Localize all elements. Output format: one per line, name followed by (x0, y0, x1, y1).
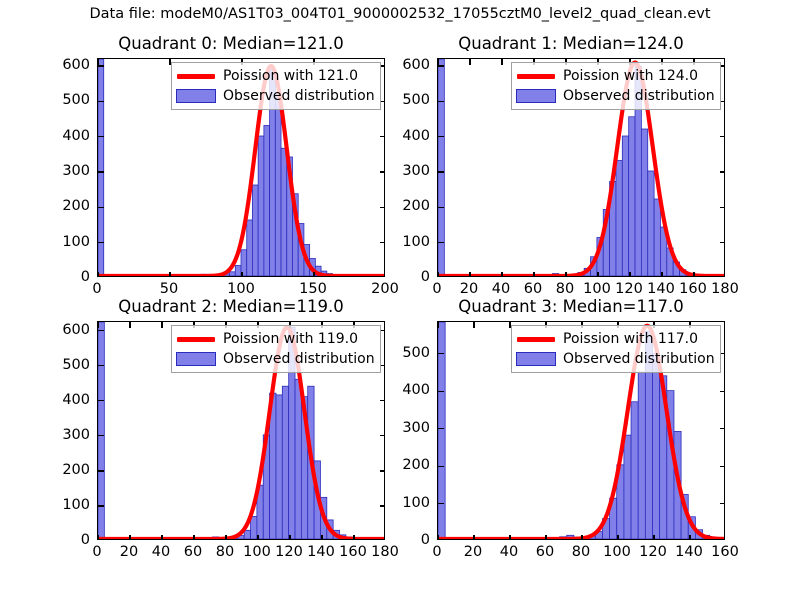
quadrant-1-xtick-mark (469, 59, 470, 65)
quadrant-2-ytick-mark (380, 435, 385, 436)
matplotlib-figure: Data file: modeM0/AS1T03_004T01_90000025… (0, 0, 800, 600)
quadrant-0-legend-entry-observed: Observed distribution (176, 86, 375, 106)
quadrant-3-xtick-mark (473, 535, 474, 540)
quadrant-3-xtick-label: 40 (500, 544, 518, 560)
quadrant-3-xtick-label: 80 (572, 544, 590, 560)
quadrant-3-xtick-mark (617, 535, 618, 540)
quadrant-2-legend-label-poisson: Poission with 119.0 (223, 331, 358, 347)
quadrant-1-ytick-mark (438, 65, 444, 66)
quadrant-1-xtick-label: 140 (647, 281, 675, 297)
quadrant-1-legend-label-observed: Observed distribution (563, 88, 715, 104)
quadrant-1-legend-entry-poisson: Poission with 124.0 (516, 66, 715, 86)
quadrant-1-xtick-label: 40 (492, 281, 510, 297)
quadrant-1-ytick-mark (720, 207, 725, 208)
quadrant-1-ytick-mark (720, 171, 725, 172)
quadrant-3-xtick-mark (437, 322, 438, 328)
quadrant-2-ytick-mark (380, 505, 385, 506)
quadrant-2-ytick-mark (98, 400, 104, 401)
quadrant-0-xtick-mark (313, 272, 314, 277)
quadrant-2-title: Quadrant 2: Median=119.0 (55, 297, 407, 316)
quadrant-0-ytick-mark (380, 207, 385, 208)
quadrant-2-xtick-label: 100 (243, 544, 271, 560)
quadrant-0-ytick-label: 400 (55, 128, 90, 144)
quadrant-1-ytick-mark (438, 242, 444, 243)
quadrant-3-xtick-label: 0 (432, 544, 441, 560)
quadrant-1-xtick-label: 120 (615, 281, 643, 297)
quadrant-1-xtick-mark (693, 272, 694, 277)
quadrant-1-ytick-label: 100 (395, 234, 430, 250)
quadrant-2-xtick-mark (161, 535, 162, 540)
quadrant-3-axes: Poission with 117.0Observed distribution (437, 321, 725, 540)
quadrant-2-xtick-label: 20 (120, 544, 138, 560)
quadrant-3-ytick-mark (720, 353, 725, 354)
quadrant-1-ytick-label: 400 (395, 128, 430, 144)
legend-line-swatch-icon (176, 68, 216, 84)
quadrant-0-ytick-mark (380, 136, 385, 137)
quadrant-3-xtick-mark (473, 322, 474, 328)
quadrant-0-legend-label-observed: Observed distribution (223, 88, 375, 104)
legend-bar-swatch-icon (516, 89, 556, 103)
quadrant-0-ytick-label: 600 (55, 57, 90, 73)
quadrant-3-xtick-mark (437, 535, 438, 540)
quadrant-2-legend-label-observed: Observed distribution (223, 351, 375, 367)
quadrant-2-ytick-label: 400 (55, 392, 90, 408)
quadrant-1-xtick-mark (437, 59, 438, 65)
quadrant-3-ytick-label: 500 (395, 345, 430, 361)
quadrant-0-ytick-label: 0 (55, 269, 90, 285)
quadrant-1-legend-label-poisson: Poission with 124.0 (563, 68, 698, 84)
quadrant-3-ytick-mark (720, 503, 725, 504)
quadrant-1-xtick-mark (565, 272, 566, 277)
quadrant-0-ytick-mark (98, 207, 104, 208)
quadrant-2-ytick-mark (380, 400, 385, 401)
legend-line-swatch-icon (516, 68, 556, 84)
quadrant-3-ytick-mark (438, 353, 444, 354)
quadrant-3-legend[interactable]: Poission with 117.0Observed distribution (511, 325, 721, 373)
quadrant-0-ytick-mark (380, 65, 385, 66)
quadrant-1-legend[interactable]: Poission with 124.0Observed distribution (511, 62, 721, 110)
quadrant-2-xtick-mark (321, 535, 322, 540)
quadrant-0-xtick-mark (97, 272, 98, 277)
quadrant-1-ytick-mark (720, 65, 725, 66)
quadrant-2-xtick-mark (225, 535, 226, 540)
quadrant-0-ytick-mark (380, 101, 385, 102)
quadrant-3-ytick-mark (720, 391, 725, 392)
quadrant-2-xtick-mark (129, 322, 130, 328)
quadrant-3-xtick-mark (689, 535, 690, 540)
quadrant-1-xtick-label: 0 (432, 281, 441, 297)
quadrant-2-xtick-label: 40 (152, 544, 170, 560)
quadrant-2-ytick-mark (98, 505, 104, 506)
quadrant-1-ytick-label: 600 (395, 57, 430, 73)
quadrant-3-title: Quadrant 3: Median=117.0 (395, 297, 747, 316)
quadrant-3-xtick-label: 120 (639, 544, 667, 560)
quadrant-2-xtick-mark (97, 535, 98, 540)
quadrant-2-ytick-label: 300 (55, 427, 90, 443)
quadrant-0-xtick-mark (169, 272, 170, 277)
quadrant-0-xtick-mark (97, 59, 98, 65)
quadrant-2-xtick-mark (97, 322, 98, 328)
panel-quadrant-1: Quadrant 1: Median=124.0Poission with 12… (395, 34, 747, 305)
quadrant-3-xtick-mark (581, 535, 582, 540)
quadrant-0-title: Quadrant 0: Median=121.0 (55, 34, 407, 53)
legend-bar-swatch-icon (516, 352, 556, 366)
quadrant-0-axes: Poission with 121.0Observed distribution (97, 58, 385, 277)
quadrant-1-ytick-mark (720, 136, 725, 137)
quadrant-0-ytick-mark (98, 65, 104, 66)
quadrant-3-ytick-label: 300 (395, 420, 430, 436)
quadrant-2-xtick-mark (257, 535, 258, 540)
quadrant-3-ytick-mark (720, 466, 725, 467)
quadrant-2-xtick-label: 120 (275, 544, 303, 560)
quadrant-1-xtick-label: 60 (524, 281, 542, 297)
quadrant-3-ytick-mark (720, 428, 725, 429)
quadrant-1-xtick-mark (469, 272, 470, 277)
quadrant-3-legend-entry-observed: Observed distribution (516, 349, 715, 369)
quadrant-0-legend[interactable]: Poission with 121.0Observed distribution (171, 62, 381, 110)
quadrant-3-xtick-mark (653, 535, 654, 540)
quadrant-0-xtick-mark (241, 272, 242, 277)
quadrant-2-legend-entry-poisson: Poission with 119.0 (176, 329, 375, 349)
quadrant-1-xtick-label: 180 (711, 281, 739, 297)
quadrant-0-legend-label-poisson: Poission with 121.0 (223, 68, 358, 84)
quadrant-1-axes: Poission with 124.0Observed distribution (437, 58, 725, 277)
quadrant-3-ytick-mark (438, 428, 444, 429)
quadrant-0-ytick-mark (380, 171, 385, 172)
quadrant-0-xtick-label: 150 (299, 281, 327, 297)
quadrant-1-ytick-label: 200 (395, 198, 430, 214)
quadrant-2-ytick-mark (98, 470, 104, 471)
panel-quadrant-0: Quadrant 0: Median=121.0Poission with 12… (55, 34, 407, 305)
quadrant-3-xtick-mark (545, 535, 546, 540)
quadrant-2-legend-entry-observed: Observed distribution (176, 349, 375, 369)
quadrant-3-xtick-mark (509, 535, 510, 540)
quadrant-3-ytick-mark (438, 466, 444, 467)
quadrant-0-ytick-label: 500 (55, 92, 90, 108)
quadrant-1-ytick-mark (438, 136, 444, 137)
quadrant-3-xtick-label: 100 (603, 544, 631, 560)
quadrant-0-ytick-mark (98, 136, 104, 137)
quadrant-3-ytick-label: 400 (395, 382, 430, 398)
quadrant-2-ytick-label: 500 (55, 357, 90, 373)
quadrant-2-ytick-mark (98, 435, 104, 436)
quadrant-0-ytick-mark (98, 101, 104, 102)
quadrant-0-ytick-mark (380, 242, 385, 243)
quadrant-2-ytick-mark (98, 330, 104, 331)
legend-line-swatch-icon (516, 331, 556, 347)
quadrant-0-ytick-label: 200 (55, 198, 90, 214)
quadrant-0-legend-entry-poisson: Poission with 121.0 (176, 66, 375, 86)
quadrant-1-xtick-mark (437, 272, 438, 277)
quadrant-3-xtick-label: 160 (711, 544, 739, 560)
quadrant-1-title: Quadrant 1: Median=124.0 (395, 34, 747, 53)
quadrant-1-ytick-mark (438, 207, 444, 208)
quadrant-0-xtick-label: 0 (92, 281, 101, 297)
quadrant-1-xtick-label: 160 (679, 281, 707, 297)
quadrant-2-ytick-label: 600 (55, 322, 90, 338)
quadrant-1-xtick-mark (501, 272, 502, 277)
quadrant-3-xtick-label: 60 (536, 544, 554, 560)
quadrant-1-xtick-label: 20 (460, 281, 478, 297)
quadrant-1-legend-entry-observed: Observed distribution (516, 86, 715, 106)
quadrant-1-xtick-mark (597, 272, 598, 277)
quadrant-1-xtick-label: 100 (583, 281, 611, 297)
quadrant-0-ytick-mark (98, 242, 104, 243)
quadrant-0-xtick-label: 50 (160, 281, 178, 297)
quadrant-3-legend-label-poisson: Poission with 117.0 (563, 331, 698, 347)
quadrant-0-ytick-label: 100 (55, 234, 90, 250)
quadrant-1-ytick-label: 300 (395, 163, 430, 179)
quadrant-2-ytick-mark (98, 365, 104, 366)
quadrant-1-ytick-mark (438, 101, 444, 102)
panel-quadrant-3: Quadrant 3: Median=117.0Poission with 11… (395, 297, 747, 568)
legend-bar-swatch-icon (176, 89, 216, 103)
quadrant-2-xtick-mark (193, 535, 194, 540)
quadrant-2-ytick-mark (380, 470, 385, 471)
quadrant-1-ytick-label: 0 (395, 269, 430, 285)
quadrant-2-xtick-label: 160 (339, 544, 367, 560)
quadrant-2-ytick-mark (380, 365, 385, 366)
quadrant-3-ytick-label: 200 (395, 457, 430, 473)
quadrant-2-xtick-mark (353, 535, 354, 540)
quadrant-3-ytick-mark (438, 391, 444, 392)
quadrant-2-xtick-label: 80 (216, 544, 234, 560)
quadrant-0-ytick-mark (98, 171, 104, 172)
quadrant-3-ytick-mark (438, 503, 444, 504)
quadrant-1-xtick-mark (629, 272, 630, 277)
quadrant-2-ytick-label: 100 (55, 497, 90, 513)
legend-bar-swatch-icon (176, 352, 216, 366)
quadrant-2-ytick-label: 200 (55, 462, 90, 478)
quadrant-2-ytick-label: 0 (55, 532, 90, 548)
quadrant-2-axes: Poission with 119.0Observed distribution (97, 321, 385, 540)
quadrant-1-ytick-mark (720, 101, 725, 102)
quadrant-1-xtick-mark (661, 272, 662, 277)
legend-line-swatch-icon (176, 331, 216, 347)
quadrant-3-legend-entry-poisson: Poission with 117.0 (516, 329, 715, 349)
quadrant-2-xtick-mark (129, 535, 130, 540)
quadrant-1-xtick-label: 80 (556, 281, 574, 297)
quadrant-2-xtick-label: 140 (307, 544, 335, 560)
quadrant-0-ytick-label: 300 (55, 163, 90, 179)
quadrant-1-xtick-mark (501, 59, 502, 65)
quadrant-1-ytick-label: 500 (395, 92, 430, 108)
quadrant-1-ytick-mark (720, 242, 725, 243)
quadrant-2-xtick-mark (161, 322, 162, 328)
quadrant-3-xtick-label: 140 (675, 544, 703, 560)
figure-suptitle: Data file: modeM0/AS1T03_004T01_90000025… (0, 6, 800, 22)
quadrant-2-xtick-label: 60 (184, 544, 202, 560)
quadrant-2-legend[interactable]: Poission with 119.0Observed distribution (171, 325, 381, 373)
quadrant-3-legend-label-observed: Observed distribution (563, 351, 715, 367)
quadrant-2-xtick-label: 0 (92, 544, 101, 560)
quadrant-3-ytick-label: 0 (395, 532, 430, 548)
panel-quadrant-2: Quadrant 2: Median=119.0Poission with 11… (55, 297, 407, 568)
quadrant-1-xtick-mark (533, 272, 534, 277)
quadrant-2-ytick-mark (380, 330, 385, 331)
quadrant-2-xtick-mark (289, 535, 290, 540)
quadrant-3-ytick-label: 100 (395, 495, 430, 511)
quadrant-0-xtick-label: 100 (227, 281, 255, 297)
quadrant-1-ytick-mark (438, 171, 444, 172)
quadrant-3-xtick-label: 20 (464, 544, 482, 560)
